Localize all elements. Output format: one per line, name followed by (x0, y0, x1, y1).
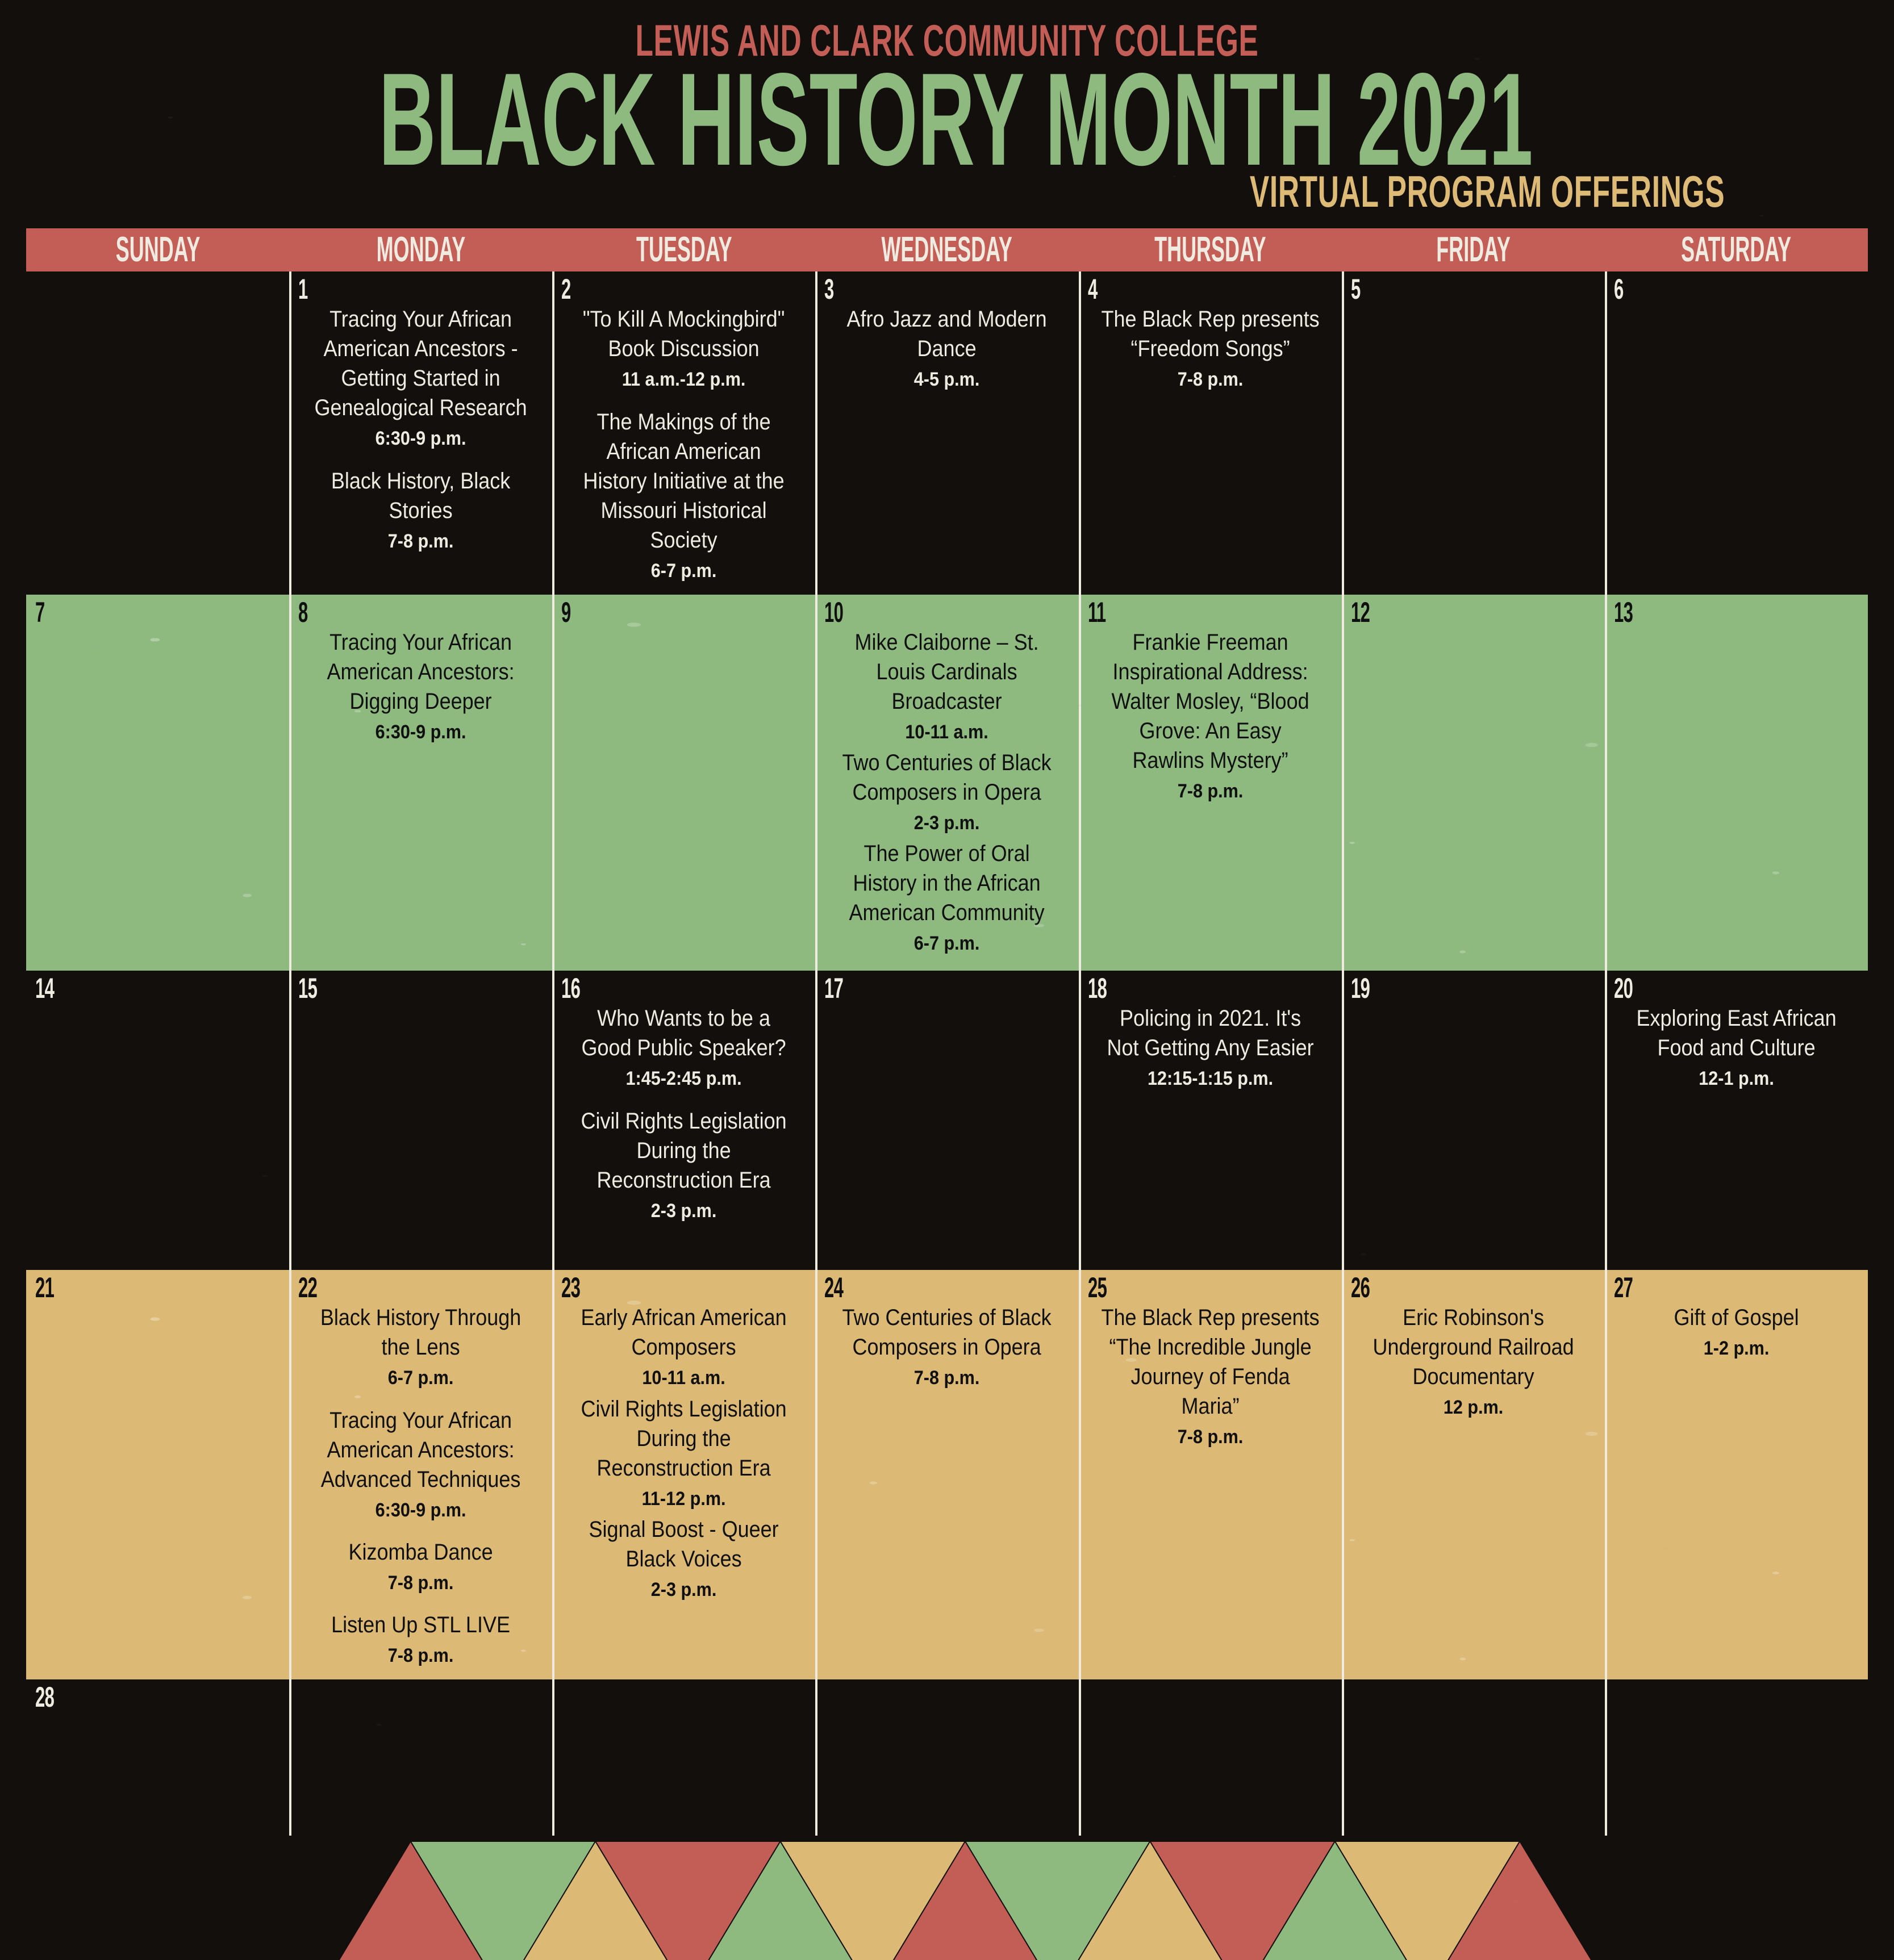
triangle-band-svg (318, 1841, 1612, 1960)
calendar-day-cell-21[interactable]: 21 (26, 1270, 289, 1679)
weekday-label: SUNDAY (115, 232, 200, 268)
event-item[interactable]: Policing in 2021. It's Not Getting Any E… (1089, 1004, 1332, 1091)
calendar-day-cell-1[interactable]: 1Tracing Your African American Ancestors… (289, 271, 552, 594)
calendar-day-cell-4[interactable]: 4The Black Rep presents “Freedom Songs”7… (1079, 271, 1342, 594)
event-title: Mike Claiborne – St. Louis Cardinals Bro… (838, 628, 1056, 716)
calendar-day-cell-2[interactable]: 2"To Kill A Mockingbird" Book Discussion… (552, 271, 815, 594)
day-number-value: 2 (561, 275, 571, 303)
event-item[interactable]: Signal Boost - Queer Black Voices2-3 p.m… (562, 1515, 805, 1602)
day-number: 17 (824, 974, 855, 1002)
calendar-week-row: 28 (26, 1679, 1868, 1836)
day-event-list: The Black Rep presents “The Incredible J… (1089, 1303, 1332, 1449)
day-number: 26 (1351, 1273, 1382, 1302)
event-title: The Black Rep presents “Freedom Songs” (1101, 304, 1319, 363)
event-title: Civil Rights Legislation During the Reco… (575, 1394, 793, 1483)
day-number-value: 23 (561, 1273, 580, 1302)
calendar-day-cell-26[interactable]: 26Eric Robinson's Underground Railroad D… (1342, 1270, 1605, 1679)
day-number: 11 (1088, 598, 1117, 626)
event-item[interactable]: Mike Claiborne – St. Louis Cardinals Bro… (825, 628, 1068, 745)
day-number-value: 19 (1351, 974, 1370, 1002)
event-title: "To Kill A Mockingbird" Book Discussion (575, 304, 793, 363)
day-number: 10 (824, 598, 855, 626)
event-item[interactable]: Who Wants to be a Good Public Speaker?1:… (562, 1004, 805, 1091)
day-number-value: 6 (1614, 275, 1624, 303)
calendar-day-cell-20[interactable]: 20Exploring East African Food and Cultur… (1605, 971, 1868, 1270)
event-item[interactable]: Early African American Composers10-11 a.… (562, 1303, 805, 1390)
event-title: Two Centuries of Black Composers in Oper… (838, 748, 1056, 807)
event-title: Eric Robinson's Underground Railroad Doc… (1364, 1303, 1582, 1391)
day-number-value: 21 (35, 1273, 54, 1302)
day-number: 5 (1351, 275, 1366, 303)
event-time: 7-8 p.m. (311, 529, 529, 554)
calendar-day-cell-3[interactable]: 3Afro Jazz and Modern Dance4-5 p.m. (815, 271, 1078, 594)
event-time: 7-8 p.m. (1101, 779, 1319, 804)
calendar-day-cell-11[interactable]: 11Frankie Freeman Inspirational Address:… (1079, 595, 1342, 971)
day-number: 22 (298, 1273, 329, 1302)
event-title: Signal Boost - Queer Black Voices (575, 1515, 793, 1574)
event-time: 10-11 a.m. (575, 1365, 793, 1390)
page-subtitle: VIRTUAL PROGRAM OFFERINGS (1250, 170, 1725, 212)
day-number: 23 (561, 1273, 592, 1302)
page-title: BLACK HISTORY MONTH 2021 (379, 66, 1515, 174)
calendar-day-cell-empty[interactable] (26, 271, 289, 594)
day-event-list: Policing in 2021. It's Not Getting Any E… (1089, 1004, 1332, 1091)
event-title: Black History Through the Lens (311, 1303, 529, 1362)
weekday-label: FRIDAY (1436, 232, 1511, 268)
event-time: 1-2 p.m. (1627, 1336, 1845, 1361)
day-number: 8 (298, 598, 314, 626)
day-number-value: 25 (1088, 1273, 1107, 1302)
weekday-label: MONDAY (376, 232, 465, 268)
event-item[interactable]: Civil Rights Legislation During the Reco… (562, 1394, 805, 1511)
header-title-line: BLACK HISTORY MONTH 2021 (0, 66, 1894, 174)
event-item[interactable]: The Power of Oral History in the African… (825, 839, 1068, 956)
day-number-value: 5 (1351, 275, 1361, 303)
event-time: 10-11 a.m. (838, 720, 1056, 745)
calendar-day-cell-10[interactable]: 10Mike Claiborne – St. Louis Cardinals B… (815, 595, 1078, 971)
event-time: 6-7 p.m. (575, 558, 793, 583)
weekday-header-thursday: THURSDAY (1079, 228, 1342, 271)
day-event-list: Early African American Composers10-11 a.… (562, 1303, 805, 1602)
event-time: 7-8 p.m. (311, 1570, 529, 1595)
day-number: 4 (1088, 275, 1103, 303)
event-item[interactable]: "To Kill A Mockingbird" Book Discussion1… (562, 304, 805, 392)
event-time: 2-3 p.m. (575, 1198, 793, 1223)
day-event-list: The Black Rep presents “Freedom Songs”7-… (1089, 304, 1332, 392)
day-number-value: 27 (1614, 1273, 1633, 1302)
day-number-value: 18 (1088, 974, 1107, 1002)
calendar-week-row: 2122Black History Through the Lens6-7 p.… (26, 1270, 1868, 1679)
day-number-value: 3 (824, 275, 834, 303)
event-time: 6:30-9 p.m. (311, 1498, 529, 1523)
day-number-value: 22 (298, 1273, 317, 1302)
day-number-value: 28 (35, 1683, 54, 1711)
calendar-day-cell-17[interactable]: 17 (815, 971, 1078, 1270)
day-event-list: Afro Jazz and Modern Dance4-5 p.m. (825, 304, 1068, 392)
day-event-list: Two Centuries of Black Composers in Oper… (825, 1303, 1068, 1390)
event-time: 12-1 p.m. (1627, 1066, 1845, 1091)
calendar-day-cell-13[interactable]: 13 (1605, 595, 1868, 971)
event-title: Who Wants to be a Good Public Speaker? (575, 1004, 793, 1063)
calendar-week-row: 141516Who Wants to be a Good Public Spea… (26, 971, 1868, 1270)
event-item[interactable]: Kizomba Dance7-8 p.m. (299, 1537, 542, 1595)
poster-footer (26, 1836, 1868, 1960)
calendar-day-cell-16[interactable]: 16Who Wants to be a Good Public Speaker?… (552, 971, 815, 1270)
day-number: 19 (1351, 974, 1382, 1002)
calendar-day-cell-19[interactable]: 19 (1342, 971, 1605, 1270)
day-number-value: 8 (298, 598, 308, 626)
day-number: 15 (298, 974, 329, 1002)
event-title: The Makings of the African American Hist… (575, 407, 793, 555)
weekday-label: WEDNESDAY (882, 232, 1012, 268)
event-item[interactable]: Two Centuries of Black Composers in Oper… (825, 1303, 1068, 1390)
calendar-day-cell-12[interactable]: 12 (1342, 595, 1605, 971)
event-title: Listen Up STL LIVE (311, 1610, 529, 1640)
calendar-day-cell-empty[interactable] (1342, 1679, 1605, 1836)
event-title: Early African American Composers (575, 1303, 793, 1362)
weekday-header-friday: FRIDAY (1342, 228, 1605, 271)
event-item[interactable]: Eric Robinson's Underground Railroad Doc… (1352, 1303, 1595, 1420)
calendar-day-cell-27[interactable]: 27Gift of Gospel1-2 p.m. (1605, 1270, 1868, 1679)
event-item[interactable]: Tracing Your African American Ancestors … (299, 304, 542, 451)
event-time: 11-12 p.m. (575, 1486, 793, 1511)
event-item[interactable]: The Black Rep presents “Freedom Songs”7-… (1089, 304, 1332, 392)
day-number-value: 13 (1614, 598, 1633, 626)
day-number-value: 20 (1614, 974, 1633, 1002)
day-number: 18 (1088, 974, 1119, 1002)
event-title: Tracing Your African American Ancestors:… (311, 628, 529, 716)
day-event-list: Eric Robinson's Underground Railroad Doc… (1352, 1303, 1595, 1420)
event-item[interactable]: Civil Rights Legislation During the Reco… (562, 1106, 805, 1223)
event-time: 2-3 p.m. (575, 1577, 793, 1602)
event-title: Two Centuries of Black Composers in Oper… (838, 1303, 1056, 1362)
weekday-header-bar: SUNDAYMONDAYTUESDAYWEDNESDAYTHURSDAYFRID… (26, 228, 1868, 271)
day-number: 24 (824, 1273, 855, 1302)
calendar-day-cell-23[interactable]: 23Early African American Composers10-11 … (552, 1270, 815, 1679)
calendar-day-cell-28[interactable]: 28 (26, 1679, 289, 1836)
event-item[interactable]: Tracing Your African American Ancestors:… (299, 1406, 542, 1523)
calendar-week-row: 78Tracing Your African American Ancestor… (26, 595, 1868, 971)
day-number: 28 (35, 1683, 66, 1711)
event-item[interactable]: Frankie Freeman Inspirational Address: W… (1089, 628, 1332, 804)
day-event-list: Gift of Gospel1-2 p.m. (1615, 1303, 1858, 1361)
day-number: 1 (298, 275, 314, 303)
calendar-grid: 1Tracing Your African American Ancestors… (26, 271, 1868, 1836)
day-number: 25 (1088, 1273, 1119, 1302)
event-title: The Power of Oral History in the African… (838, 839, 1056, 927)
event-time: 11 a.m.-12 p.m. (575, 367, 793, 392)
calendar-day-cell-25[interactable]: 25The Black Rep presents “The Incredible… (1079, 1270, 1342, 1679)
day-number: 20 (1614, 974, 1645, 1002)
event-time: 1:45-2:45 p.m. (575, 1066, 793, 1091)
day-number: 16 (561, 974, 592, 1002)
event-title: Black History, Black Stories (311, 466, 529, 525)
day-number: 12 (1351, 598, 1382, 626)
calendar-day-cell-8[interactable]: 8Tracing Your African American Ancestors… (289, 595, 552, 971)
day-number: 21 (35, 1273, 66, 1302)
calendar-day-cell-18[interactable]: 18Policing in 2021. It's Not Getting Any… (1079, 971, 1342, 1270)
day-number: 9 (561, 598, 577, 626)
event-title: Gift of Gospel (1627, 1303, 1845, 1332)
calendar-day-cell-14[interactable]: 14 (26, 971, 289, 1270)
day-number-value: 7 (35, 598, 45, 626)
day-number-value: 16 (561, 974, 580, 1002)
event-time: 4-5 p.m. (838, 367, 1056, 392)
triangle-band (318, 1841, 1612, 1960)
weekday-label: SATURDAY (1682, 232, 1792, 268)
calendar-day-cell-9[interactable]: 9 (552, 595, 815, 971)
day-event-list: Mike Claiborne – St. Louis Cardinals Bro… (825, 628, 1068, 956)
event-time: 7-8 p.m. (1101, 1424, 1319, 1449)
event-title: Policing in 2021. It's Not Getting Any E… (1101, 1004, 1319, 1063)
calendar-day-cell-empty[interactable] (1079, 1679, 1342, 1836)
event-title: Tracing Your African American Ancestors:… (311, 1406, 529, 1494)
event-time: 6:30-9 p.m. (311, 426, 529, 451)
event-item[interactable]: Black History, Black Stories7-8 p.m. (299, 466, 542, 554)
day-number-value: 17 (824, 974, 843, 1002)
black-history-month-calendar-poster: LEWIS AND CLARK COMMUNITY COLLEGE BLACK … (0, 0, 1894, 1960)
day-number: 2 (561, 275, 577, 303)
event-title: Civil Rights Legislation During the Reco… (575, 1106, 793, 1195)
day-event-list: Tracing Your African American Ancestors … (299, 304, 542, 553)
day-number: 3 (824, 275, 840, 303)
calendar-day-cell-6[interactable]: 6 (1605, 271, 1868, 594)
calendar-day-cell-empty[interactable] (552, 1679, 815, 1836)
event-time: 12:15-1:15 p.m. (1101, 1066, 1319, 1091)
calendar-day-cell-24[interactable]: 24Two Centuries of Black Composers in Op… (815, 1270, 1078, 1679)
calendar-week-row: 1Tracing Your African American Ancestors… (26, 271, 1868, 594)
calendar-day-cell-empty[interactable] (815, 1679, 1078, 1836)
calendar-day-cell-22[interactable]: 22Black History Through the Lens6-7 p.m.… (289, 1270, 552, 1679)
calendar-day-cell-5[interactable]: 5 (1342, 271, 1605, 594)
event-title: Frankie Freeman Inspirational Address: W… (1101, 628, 1319, 775)
event-item[interactable]: Tracing Your African American Ancestors:… (299, 628, 542, 745)
day-event-list: Black History Through the Lens6-7 p.m.Tr… (299, 1303, 542, 1668)
day-number-value: 4 (1088, 275, 1098, 303)
day-number-value: 14 (35, 974, 54, 1002)
calendar-day-cell-7[interactable]: 7 (26, 595, 289, 971)
event-time: 7-8 p.m. (1101, 367, 1319, 392)
day-event-list: Who Wants to be a Good Public Speaker?1:… (562, 1004, 805, 1223)
day-number: 14 (35, 974, 66, 1002)
event-item[interactable]: Gift of Gospel1-2 p.m. (1615, 1303, 1858, 1361)
day-number-value: 15 (298, 974, 317, 1002)
event-time: 7-8 p.m. (838, 1365, 1056, 1390)
day-number-value: 9 (561, 598, 571, 626)
event-time: 6-7 p.m. (311, 1365, 529, 1390)
day-number: 6 (1614, 275, 1629, 303)
event-time: 7-8 p.m. (311, 1643, 529, 1668)
event-title: Afro Jazz and Modern Dance (838, 304, 1056, 363)
calendar-day-cell-15[interactable]: 15 (289, 971, 552, 1270)
weekday-header-monday: MONDAY (289, 228, 552, 271)
weekday-header-saturday: SATURDAY (1605, 228, 1868, 271)
event-item[interactable]: Exploring East African Food and Culture1… (1615, 1004, 1858, 1091)
calendar-day-cell-empty[interactable] (1605, 1679, 1868, 1836)
day-event-list: Exploring East African Food and Culture1… (1615, 1004, 1858, 1091)
weekday-header-wednesday: WEDNESDAY (815, 228, 1078, 271)
event-time: 6:30-9 p.m. (311, 720, 529, 745)
day-number-value: 26 (1351, 1273, 1370, 1302)
event-title: Exploring East African Food and Culture (1627, 1004, 1845, 1063)
weekday-label: TUESDAY (636, 232, 732, 268)
event-item[interactable]: Black History Through the Lens6-7 p.m. (299, 1303, 542, 1390)
day-number-value: 11 (1088, 598, 1106, 626)
day-event-list: "To Kill A Mockingbird" Book Discussion1… (562, 304, 805, 583)
event-item[interactable]: The Black Rep presents “The Incredible J… (1089, 1303, 1332, 1449)
weekday-label: THURSDAY (1154, 232, 1266, 268)
event-item[interactable]: Listen Up STL LIVE7-8 p.m. (299, 1610, 542, 1668)
event-title: Kizomba Dance (311, 1537, 529, 1567)
day-number: 7 (35, 598, 51, 626)
day-number-value: 1 (298, 275, 308, 303)
event-title: Tracing Your African American Ancestors … (311, 304, 529, 423)
day-number: 27 (1614, 1273, 1645, 1302)
day-number-value: 12 (1351, 598, 1370, 626)
event-item[interactable]: Afro Jazz and Modern Dance4-5 p.m. (825, 304, 1068, 392)
event-time: 6-7 p.m. (838, 931, 1056, 956)
weekday-header-sunday: SUNDAY (26, 228, 289, 271)
weekday-header-tuesday: TUESDAY (552, 228, 815, 271)
event-item[interactable]: The Makings of the African American Hist… (562, 407, 805, 583)
day-number-value: 10 (824, 598, 843, 626)
poster-header: LEWIS AND CLARK COMMUNITY COLLEGE BLACK … (0, 0, 1894, 212)
day-event-list: Tracing Your African American Ancestors:… (299, 628, 542, 745)
event-time: 2-3 p.m. (838, 810, 1056, 835)
event-title: The Black Rep presents “The Incredible J… (1101, 1303, 1319, 1421)
day-event-list: Frankie Freeman Inspirational Address: W… (1089, 628, 1332, 804)
day-number-value: 24 (824, 1273, 843, 1302)
event-time: 12 p.m. (1364, 1395, 1582, 1420)
calendar-day-cell-empty[interactable] (289, 1679, 552, 1836)
event-item[interactable]: Two Centuries of Black Composers in Oper… (825, 748, 1068, 835)
day-number: 13 (1614, 598, 1645, 626)
